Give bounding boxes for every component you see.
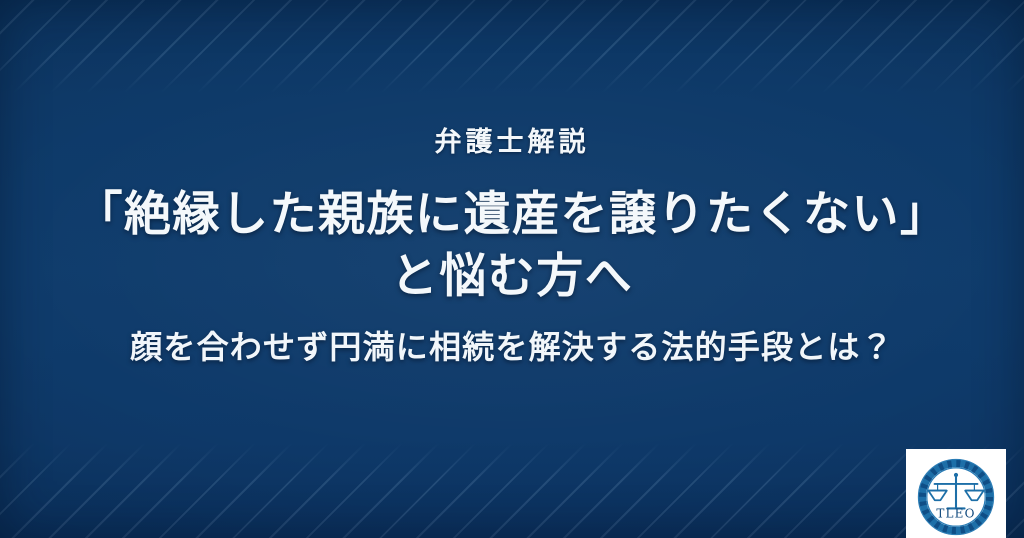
banner-image: 弁護士解説 「絶縁した親族に遺産を譲りたくない」 と悩む方へ 顔を合わせず円満に… [0, 0, 1024, 538]
banner-text-block: 弁護士解説 「絶縁した親族に遺産を譲りたくない」 と悩む方へ 顔を合わせず円満に… [0, 0, 1024, 538]
tleo-logo-panel: TLEO [906, 449, 1006, 538]
scales-of-justice-icon: TLEO [916, 457, 996, 537]
headline: 「絶縁した親族に遺産を譲りたくない」 と悩む方へ [76, 184, 949, 308]
subheadline: 顔を合わせず円満に相続を解決する法的手段とは？ [130, 327, 894, 369]
eyebrow-label: 弁護士解説 [435, 129, 590, 156]
headline-line-1: 「絶縁した親族に遺産を譲りたくない」 [76, 184, 949, 246]
logo-seal-text: TLEO [936, 506, 975, 520]
headline-line-2: と悩む方へ [76, 246, 949, 308]
